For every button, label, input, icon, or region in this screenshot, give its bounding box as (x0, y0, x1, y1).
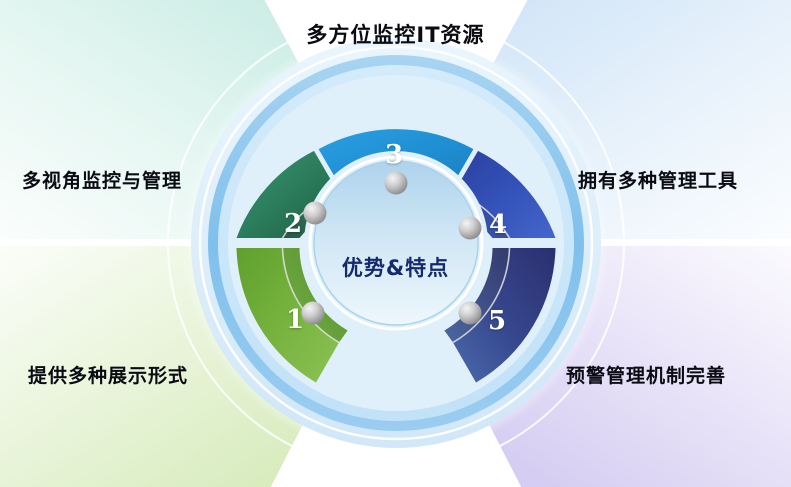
segment-number-5: 5 (488, 308, 506, 334)
label-top: 多方位监控IT资源 (0, 25, 791, 46)
marker-3-ball (385, 172, 408, 195)
segment-number-4: 4 (489, 212, 507, 238)
segment-number-1: 1 (286, 307, 304, 333)
label-middle-right: 拥有多种管理工具 (578, 172, 738, 191)
marker-2-ball (304, 202, 327, 225)
marker-1-ball (302, 302, 325, 325)
marker-4-ball (459, 217, 482, 240)
label-bottom-right: 预警管理机制完善 (566, 367, 726, 386)
marker-5-ball (459, 302, 482, 325)
segment-number-2: 2 (284, 211, 302, 237)
infographic-canvas (0, 0, 791, 487)
label-middle-left: 多视角监控与管理 (22, 172, 182, 191)
label-bottom-left: 提供多种展示形式 (28, 367, 188, 386)
center-label: 优势&特点 (0, 252, 791, 282)
segment-number-3: 3 (385, 142, 403, 168)
donut-diagram (0, 0, 791, 487)
